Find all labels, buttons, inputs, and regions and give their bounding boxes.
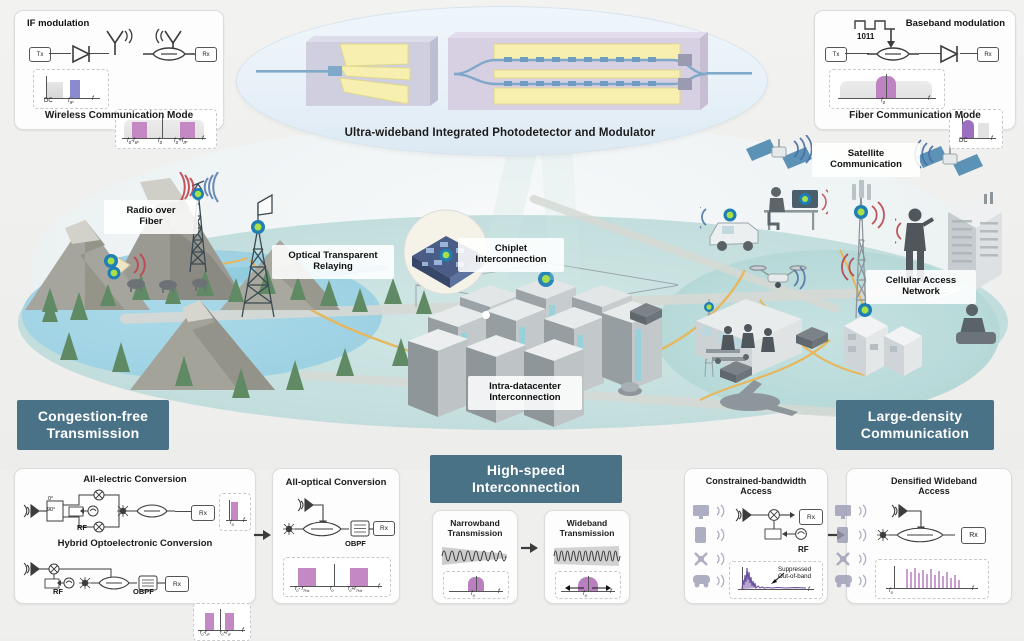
conversion-panel: All-electric Conversion (14, 468, 256, 604)
device-icon-column-densified (833, 503, 879, 591)
label-intra-datacenter-interconnection: Intra-datacenter Interconnection (468, 376, 582, 410)
label-chiplet-interconnection: Chiplet Interconnection (458, 238, 564, 272)
label-cellular-access-network: Cellular Access Network (866, 270, 976, 304)
wireless-communication-panel: IF modulation Tx (14, 10, 224, 130)
obpf-label-hybrid: OBPF (133, 587, 154, 596)
tx-antenna-icon (99, 27, 133, 57)
wireless-mode-footer: Wireless Communication Mode (15, 110, 223, 122)
rx-block-hybrid: Rx (165, 576, 189, 592)
spectrum-constrained: Suppressed Out-of-band f (729, 561, 823, 599)
rf-label-electric: RF (77, 523, 87, 532)
hybrid-0deg-label: 0° (48, 496, 53, 502)
spectrum-optical-baseband: f0 f (829, 69, 945, 109)
rx-block-electric: Rx (191, 505, 215, 521)
rx-block-densified: Rx (961, 527, 986, 544)
densified-line1: Densified Wideband (891, 476, 977, 486)
rf-label-constrained: RF (798, 545, 809, 554)
spectrum-if-baseband: DC fIF f (33, 69, 109, 109)
tx-block-left: Tx (29, 47, 51, 62)
obpf-label-all-optical: OBPF (345, 539, 366, 548)
wideband-title: Wideband Transmission (545, 519, 629, 539)
densified-title: Densified Wideband Access (857, 476, 1011, 497)
suppressed-annotation: Suppressed Out-of-band (778, 566, 811, 580)
constrained-line2: Access (740, 486, 772, 496)
all-electric-conversion-title: All-electric Conversion (15, 475, 255, 486)
narrowband-waveform (441, 545, 509, 567)
label-optical-transparent-relaying: Optical Transparent Relaying (272, 245, 394, 279)
narrowband-line1: Narrowband (450, 518, 500, 528)
drone (748, 258, 808, 296)
label-line2: Interconnection (489, 393, 560, 404)
constrained-bandwidth-access-panel: Constrained-bandwidth Access (684, 468, 828, 604)
if-modulation-heading: IF modulation (27, 18, 89, 29)
section-label-large-density: Large-density Communication (836, 400, 994, 450)
cattle (120, 272, 220, 294)
section-line2: Transmission (47, 425, 140, 442)
dc-label: DC (44, 98, 53, 104)
wideband-line2: Transmission (560, 528, 615, 538)
narrowband-title: Narrowband Transmission (433, 519, 517, 539)
constrained-line1: Constrained-bandwidth (706, 476, 807, 486)
spectrum-hybrid-optoelectronic: f0-fIF f0+fIF f (193, 603, 251, 641)
label-line2: Communication (830, 160, 902, 171)
wideband-waveform (553, 545, 621, 567)
rx-block-all-optical: Rx (373, 521, 395, 536)
fiber-communication-panel: Baseband modulation 1011 Tx Rx (814, 10, 1016, 130)
arrow-narrowband-to-wideband (521, 540, 539, 556)
densified-wideband-access-panel: Densified Wideband Access (846, 468, 1012, 604)
baseband-modulation-heading: Baseband modulation (906, 18, 1005, 29)
rx-block-right: Rx (977, 47, 999, 62)
wire-pd-to-rx-right (960, 53, 978, 54)
chip-caption: Ultra-wideband Integrated Photodetector … (300, 127, 700, 140)
fiber-mode-footer: Fiber Communication Mode (815, 110, 1015, 122)
bit-pattern-label: 1011 (857, 32, 874, 41)
label-satellite-communication: Satellite Communication (812, 143, 920, 177)
narrowband-line2: Transmission (448, 528, 503, 538)
narrowband-transmission-panel: Narrowband Transmission f0 f (432, 510, 518, 604)
suppressed-line2: Out-of-band (778, 573, 811, 580)
label-line2: Network (902, 287, 939, 298)
hybrid-90deg-label: 90° (47, 507, 55, 513)
vehicle-lowleft (706, 378, 816, 424)
suppressed-line1: Suppressed (778, 566, 811, 573)
spectrum-wideband: f0 f (555, 571, 621, 599)
label-line2: Fiber (139, 217, 162, 228)
all-optical-conversion-title: All-optical Conversion (273, 478, 399, 489)
tx-block-right: Tx (825, 47, 847, 62)
label-line2: Relaying (313, 262, 353, 273)
spectrum-densified: f0 f (875, 559, 989, 599)
section-line2: Interconnection (472, 479, 580, 496)
emergency-van (700, 207, 772, 255)
hybrid-optoelectronic-title: Hybrid Optoelectronic Conversion (15, 539, 255, 550)
wire-tx-to-pd (49, 53, 71, 54)
constrained-title: Constrained-bandwidth Access (685, 476, 827, 497)
label-radio-over-fiber: Radio over Fiber (104, 200, 198, 234)
wire-mzm-rx-electric (175, 511, 191, 512)
wideband-line1: Wideband (567, 518, 608, 528)
section-label-congestion-free: Congestion-free Transmission (17, 400, 169, 450)
mzm-icon-left (141, 45, 197, 63)
section-line1: High-speed (487, 462, 565, 479)
rx-block-left: Rx (195, 47, 217, 62)
section-line2: Communication (861, 425, 969, 442)
label-line2: Interconnection (475, 255, 546, 266)
rx-block-constrained: Rx (799, 509, 823, 525)
section-line1: Large-density (868, 408, 962, 425)
section-line1: Congestion-free (38, 408, 148, 425)
modulation-drive-arrow (885, 29, 897, 49)
spectrum-narrowband: f0 f (443, 571, 509, 599)
densified-line2: Access (918, 486, 950, 496)
photodetector-modulator-chip (248, 14, 758, 126)
spectrum-all-optical: f0- fTHz f0 f0+fTHz f (283, 557, 391, 597)
rf-label-hybrid: RF (53, 587, 63, 596)
all-optical-conversion-panel: All-optical Conversion Rx OBPF (272, 468, 400, 604)
wideband-transmission-panel: Wideband Transmission f0 f (544, 510, 630, 604)
node-glow-left (100, 250, 122, 272)
section-label-high-speed: High-speed Interconnection (430, 455, 622, 503)
arrow-left-to-alloptical (254, 527, 272, 543)
figure-canvas: Ultra-wideband Integrated Photodetector … (0, 0, 1024, 637)
spectrum-all-electric: f0 f (219, 493, 251, 531)
